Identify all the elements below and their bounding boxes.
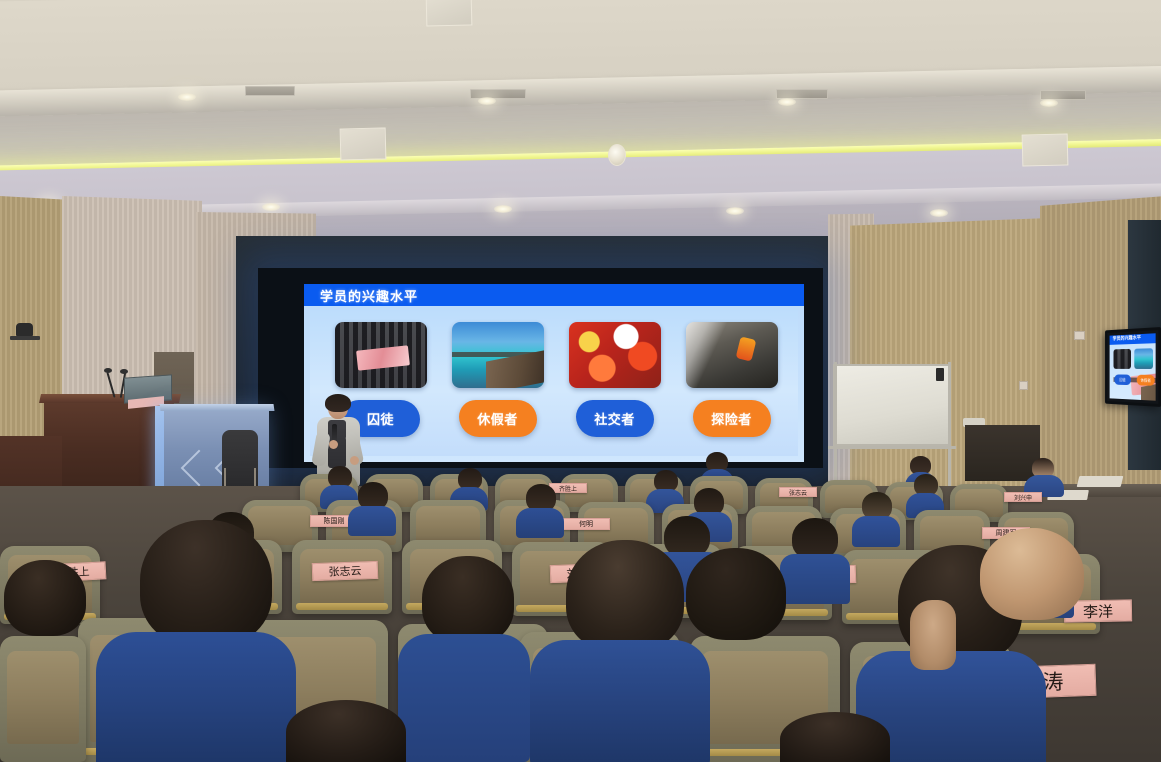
slide-thumbnail-row [322, 322, 790, 390]
side-monitor-slide: 学员的兴趣水平 囚徒 休假者 [1110, 333, 1156, 400]
side-monitor-pills: 囚徒 休假者 [1114, 374, 1155, 385]
presenter-hand-right [350, 456, 359, 465]
ceiling-air-vent-2 [470, 89, 526, 99]
attendee-head [686, 548, 786, 640]
ceiling-downlight-1 [178, 93, 196, 101]
attendee-head [422, 556, 514, 644]
seat-cushion [416, 506, 480, 544]
attendee-torso [852, 516, 900, 547]
attendee-head [286, 700, 406, 762]
attendee-head [140, 520, 272, 646]
category-pill-vacationer: 休假者 [459, 400, 537, 437]
attendee-torso [348, 506, 396, 536]
name-card-b8: 张志云 [779, 487, 817, 497]
slide-category-row: 囚徒 休假者 社交者 探险者 [322, 396, 790, 440]
side-monitor-pill-1: 囚徒 [1114, 374, 1131, 385]
side-monitor-pill-2: 休假者 [1137, 375, 1155, 386]
wall-camera-bracket [10, 336, 40, 340]
smoke-detector-icon [608, 144, 626, 166]
ceiling-downlight-8 [726, 207, 744, 215]
ceiling-downlight-4 [1040, 99, 1058, 107]
attendee-e5-bald [980, 528, 1090, 638]
ceiling-vent-panel-top [426, 0, 473, 27]
attendee-e4-front [530, 540, 710, 762]
ceiling-downlight-7 [494, 205, 512, 213]
attendee-torso [96, 632, 296, 762]
ceiling-downlight-9 [930, 209, 948, 217]
ceiling-access-panel-2 [1022, 133, 1069, 166]
whiteboard-clip [936, 368, 944, 381]
mountain-climbers-photo [686, 322, 778, 388]
slide-title: 学员的兴趣水平 [320, 286, 418, 305]
attendee-f1-partial [286, 700, 406, 762]
presentation-slide: 学员的兴趣水平 囚徒 休假者 社交者 探险者 [304, 284, 804, 462]
whiteboard-leg-left [834, 362, 837, 488]
attendee-head [980, 528, 1084, 620]
prison-bars-photo [335, 322, 427, 388]
side-monitor-thumbnails [1113, 348, 1153, 369]
ceiling-downlight-2 [478, 97, 496, 105]
microphone-head-2 [120, 369, 128, 374]
attendee-e5-glasses [686, 548, 806, 678]
mobile-whiteboard[interactable] [833, 364, 951, 446]
attendee-head [566, 540, 684, 652]
name-card-b11: 刘兴申 [1004, 492, 1042, 502]
attendee-c2 [348, 482, 396, 534]
microphone-head-1 [104, 368, 112, 373]
wall-camera-icon [16, 323, 33, 336]
attendee-a3-side-table [1024, 458, 1064, 494]
whiteboard-leg-right [948, 362, 951, 488]
wall-outlet-plate-2[interactable] [1019, 381, 1028, 390]
side-monitor-thumb-1 [1113, 349, 1131, 369]
category-pill-socializer: 社交者 [576, 400, 654, 437]
beach-pier-photo [452, 322, 544, 388]
attendee-c8 [852, 492, 900, 546]
ceiling-access-panel-1 [340, 127, 387, 160]
presenter-hair [325, 394, 351, 412]
attendee-e1-front [96, 520, 296, 762]
attendee-torso [516, 508, 564, 538]
ceiling-downlight-6 [262, 203, 280, 211]
whiteboard-crossbar [828, 446, 956, 449]
name-card-d2: 张志云 [312, 561, 379, 581]
attendee-f2-partial [780, 712, 890, 762]
attendee-head [4, 560, 86, 636]
lectern-top-surface [160, 404, 275, 411]
attendee-head [780, 712, 890, 762]
attendee-hand [910, 600, 956, 670]
attendee-e6-hand [910, 600, 970, 680]
lectern-chevron-1 [181, 450, 218, 487]
presenter-hand-left [329, 440, 338, 449]
crowd-party-photo [569, 322, 661, 388]
attendee-c4 [516, 484, 564, 536]
side-monitor-thumb-2 [1134, 348, 1153, 369]
name-card-c5: 何明 [562, 518, 610, 530]
auditorium-scene: 学员的兴趣水平 囚徒 休假者 社交者 探险者 学员的兴趣水平 [0, 0, 1161, 762]
attendee-e0 [0, 560, 96, 700]
ceiling-downlight-3 [778, 98, 796, 106]
side-monitor-title: 学员的兴趣水平 [1113, 334, 1141, 342]
table-papers-1 [1077, 476, 1124, 487]
category-pill-explorer: 探险者 [693, 400, 771, 437]
ceiling-air-vent-1 [245, 86, 295, 96]
attendee-torso [530, 640, 710, 762]
attendee-e3 [398, 556, 530, 762]
attendee-torso [398, 634, 530, 762]
seat-trim [296, 603, 388, 610]
side-wall-monitor[interactable]: 学员的兴趣水平 囚徒 休假者 [1105, 327, 1161, 407]
wall-outlet-plate-1[interactable] [1074, 331, 1085, 340]
